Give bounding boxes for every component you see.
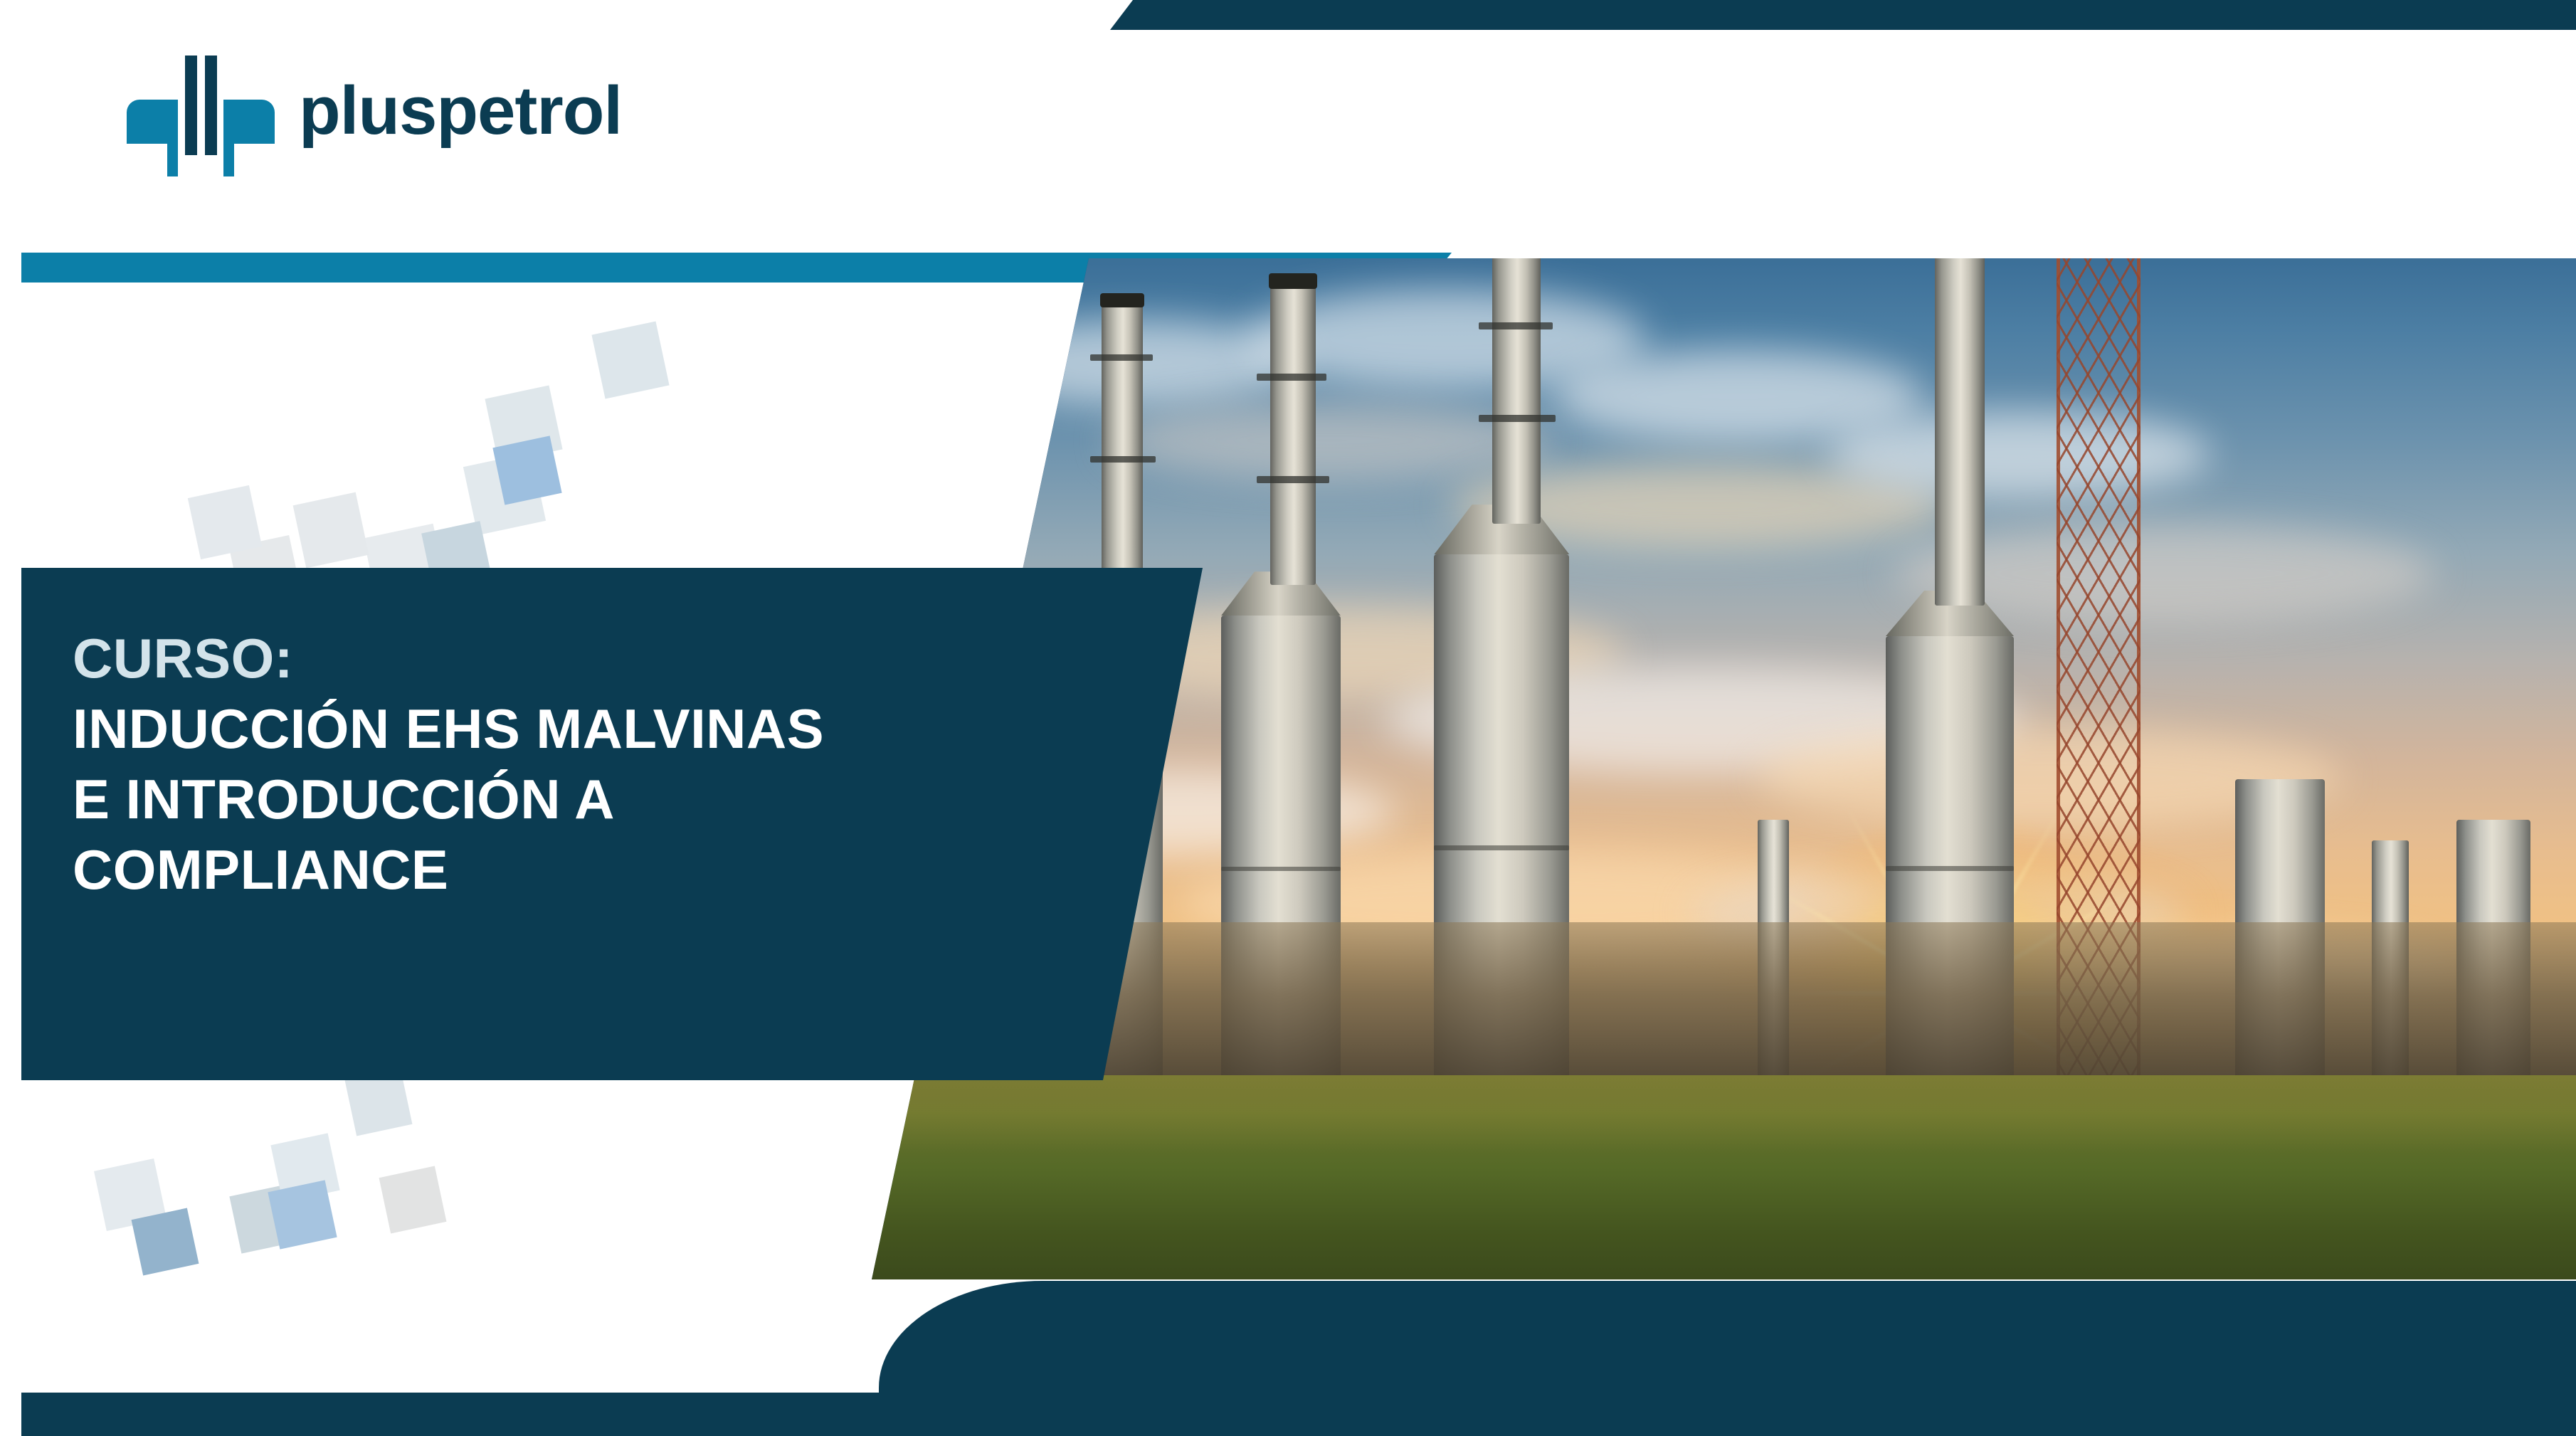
flare-stack	[1270, 279, 1316, 586]
column-ring	[1434, 845, 1569, 850]
pluspetrol-mark-icon	[127, 56, 275, 155]
title-line-3: COMPLIANCE	[73, 835, 1126, 905]
mark-flag-right	[223, 100, 275, 144]
flare-stack	[1935, 258, 1985, 606]
decorative-square	[293, 492, 369, 569]
grass-highlight	[872, 1075, 2576, 1153]
stack-cap	[1100, 293, 1144, 307]
decorative-square	[591, 321, 669, 398]
stack-platform	[1090, 456, 1156, 463]
stack-platform	[1090, 354, 1153, 361]
page-title: CURSO: INDUCCIÓN EHS MALVINAS E INTRODUC…	[73, 623, 1126, 905]
mark-tail-left	[167, 144, 178, 176]
column-ring	[1221, 867, 1341, 871]
cloud-streak	[1110, 401, 1551, 480]
stack-platform	[1479, 322, 1553, 329]
stack-platform	[950, 507, 1014, 514]
mark-tail-right	[223, 144, 234, 176]
decorative-square	[492, 435, 561, 505]
stack-cap	[1269, 273, 1317, 289]
stack-platform	[950, 374, 1011, 381]
flare-stack	[1492, 258, 1541, 524]
mark-bar-1	[185, 56, 197, 155]
top-navy-accent-bar	[1110, 0, 2576, 30]
title-line-course-label: CURSO:	[73, 623, 1126, 694]
mark-bar-2	[205, 56, 217, 155]
grass-foreground	[872, 1075, 2576, 1279]
brand-logo: pluspetrol	[127, 56, 622, 155]
stack-platform	[1257, 374, 1326, 381]
stack-platform	[1479, 415, 1556, 422]
title-line-1: INDUCCIÓN EHS MALVINAS	[73, 694, 1126, 764]
mark-flag-left	[127, 100, 178, 144]
brand-wordmark: pluspetrol	[299, 77, 622, 155]
decorative-square	[268, 1180, 337, 1249]
cloud-streak	[1826, 411, 2210, 497]
stack-platform	[1257, 476, 1329, 483]
title-panel: CURSO: INDUCCIÓN EHS MALVINAS E INTRODUC…	[21, 568, 1203, 1080]
decorative-square	[188, 485, 262, 559]
slide-canvas: CURSO: INDUCCIÓN EHS MALVINAS E INTRODUC…	[0, 0, 2576, 1436]
title-line-2: E INTRODUCCIÓN A	[73, 764, 1126, 835]
decorative-square	[132, 1208, 199, 1276]
column-ring	[1886, 866, 2014, 871]
stack-cap	[961, 312, 1003, 326]
bottom-navy-strip	[21, 1393, 2576, 1436]
decorative-square	[379, 1166, 447, 1234]
